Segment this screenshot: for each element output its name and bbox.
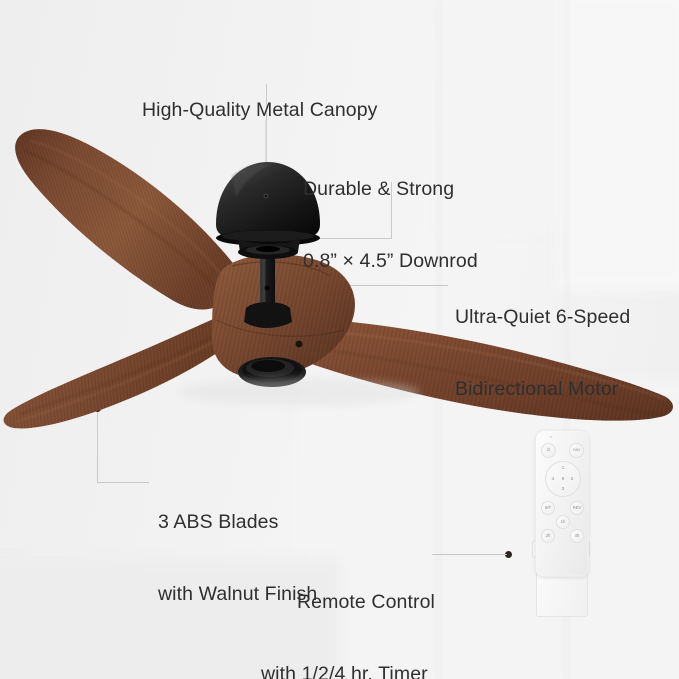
- speed-4-label[interactable]: 4: [549, 476, 557, 481]
- power-button[interactable]: ⏻: [541, 443, 556, 458]
- speed-center-label[interactable]: 6: [559, 476, 567, 481]
- remote-callout-line1: Remote Control: [297, 590, 435, 614]
- reverse-button[interactable]: REV: [570, 501, 584, 515]
- motor-callout-line2: Bidirectional Motor: [455, 377, 630, 401]
- speed-dial[interactable]: 1 2 3 4 6: [545, 461, 581, 497]
- downrod-callout: Durable & Strong 0.8” × 4.5” Downrod: [303, 129, 478, 321]
- downrod-callout-line2: 0.8” × 4.5” Downrod: [303, 249, 478, 273]
- downrod-callout-line1: Durable & Strong: [303, 177, 478, 201]
- timer-4h-button[interactable]: 4h: [570, 529, 584, 543]
- six-f-button[interactable]: 6/F: [541, 501, 555, 515]
- motor-callout: Ultra-Quiet 6-Speed Bidirectional Motor: [455, 257, 630, 449]
- speed-3-label[interactable]: 3: [559, 486, 567, 491]
- infographic-canvas: High-Quality Metal Canopy Durable & Stro…: [0, 0, 679, 679]
- remote-control: ⏻ FAN 1 2 3 4 6 6/F REV 1h 2h 4h: [524, 430, 598, 615]
- speed-1-label[interactable]: 1: [559, 465, 567, 470]
- remote-callout-line2: with 1/2/4 hr. Timer: [261, 662, 435, 679]
- motor-callout-line1: Ultra-Quiet 6-Speed: [455, 305, 630, 329]
- fan-button[interactable]: FAN: [569, 443, 584, 458]
- timer-1h-button[interactable]: 1h: [556, 515, 570, 529]
- speed-2-label[interactable]: 2: [568, 476, 576, 481]
- timer-2h-button[interactable]: 2h: [541, 529, 555, 543]
- blades-callout-line1: 3 ABS Blades: [158, 510, 317, 534]
- remote-led-indicator: [550, 436, 552, 438]
- remote-body: ⏻ FAN 1 2 3 4 6 6/F REV 1h 2h 4h: [535, 430, 589, 577]
- canopy-callout-line1: High-Quality Metal Canopy: [142, 98, 378, 122]
- remote-callout: Remote Control with 1/2/4 hr. Timer: [261, 542, 435, 679]
